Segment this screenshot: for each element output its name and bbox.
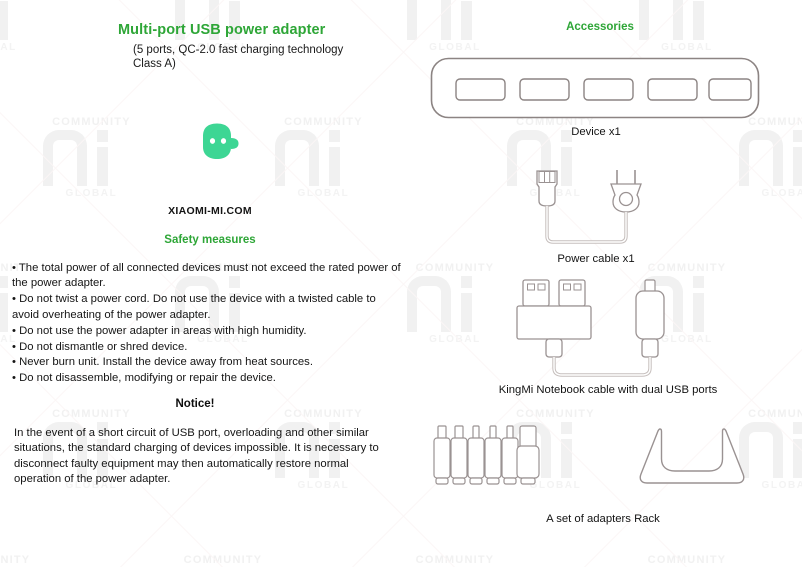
page-subtitle: (5 ports, QC-2.0 fast charging technolog… [133,43,363,71]
safety-measures-heading: Safety measures [0,234,420,246]
adapter-tips-icon [432,424,542,492]
dual-usb-cable-icon [505,278,695,378]
caption-power-cable: Power cable x1 [420,253,772,265]
list-item: • The total power of all connected devic… [12,261,404,292]
list-item: • Never burn unit. Install the device aw… [12,355,404,370]
product-manual-page: COMMUNITYGLOBALCOMMUNITYGLOBALCOMMUNITYG… [0,0,802,567]
page-title: Multi-port USB power adapter [118,22,325,38]
list-item: • Do not use the power adapter in areas … [12,324,404,339]
list-item: • Do not dismantle or shred device. [12,340,404,355]
list-item: • Do not twist a power cord. Do not use … [12,292,404,323]
notice-body-text: In the event of a short circuit of USB p… [14,426,394,488]
caption-device: Device x1 [420,126,772,138]
power-cable-icon [525,168,655,248]
mi-bunny-mascot-icon [199,122,241,162]
usb-hub-device-icon [430,57,760,119]
right-column: Accessories Device x1 [420,0,802,567]
safety-measures-list: • The total power of all connected devic… [12,261,404,387]
accessories-heading: Accessories [420,21,780,33]
caption-adapters-rack: A set of adapters Rack [420,513,786,525]
left-column: Multi-port USB power adapter (5 ports, Q… [0,0,420,567]
notice-heading: Notice! [0,398,390,410]
caption-kingmi-cable: KingMi Notebook cable with dual USB port… [420,384,796,396]
adapter-rack-icon [638,424,746,492]
brand-url-text: XIAOMI-MI.COM [0,205,420,217]
list-item: • Do not disassemble, modifying or repai… [12,371,404,386]
